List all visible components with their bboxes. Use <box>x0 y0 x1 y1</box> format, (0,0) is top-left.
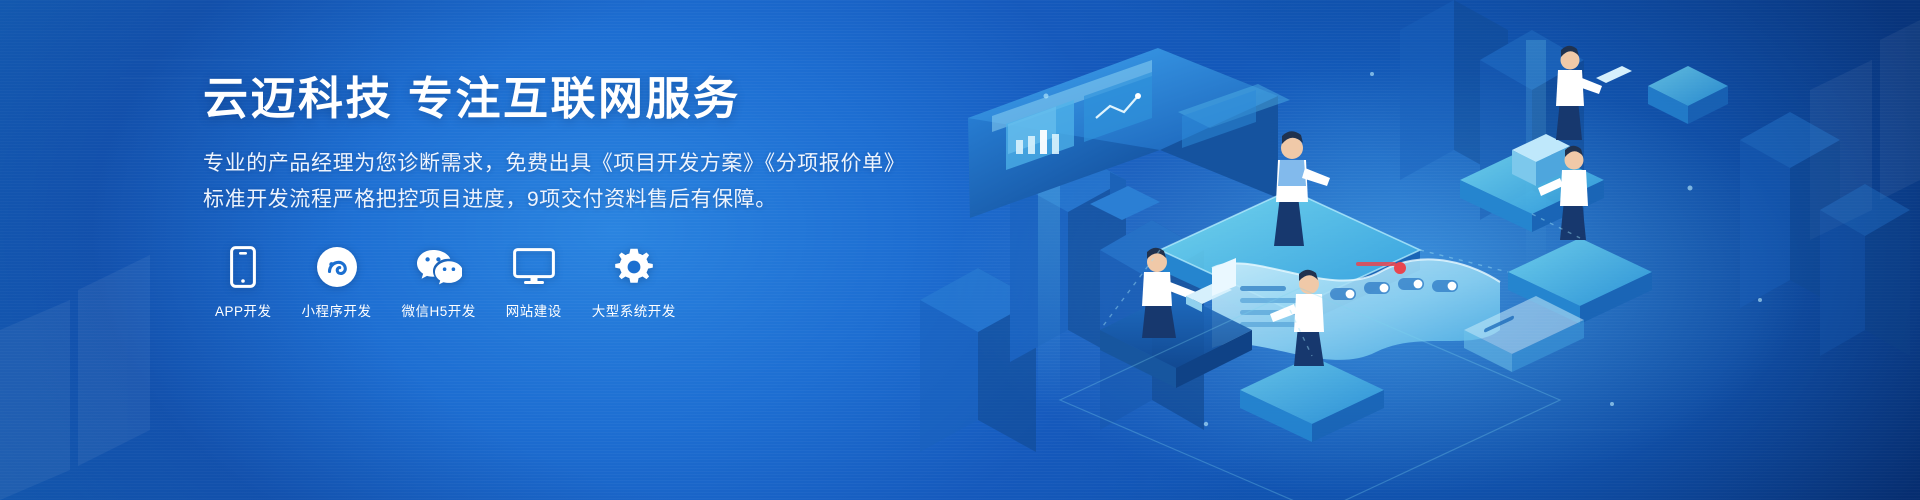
monitor-icon <box>506 245 562 289</box>
service-label-miniprogram: 小程序开发 <box>302 300 372 320</box>
hero-copy: 云迈科技 专注互联网服务 专业的产品经理为您诊断需求，免费出具《项目开发方案》《… <box>203 72 923 320</box>
service-item-website[interactable]: 网站建设 <box>506 245 562 320</box>
hero-illustration <box>860 0 1920 500</box>
service-item-miniprogram[interactable]: 小程序开发 <box>302 245 372 320</box>
subtitle-line-2: 标准开发流程严格把控项目进度，9项交付资料售后有保障。 <box>203 182 923 218</box>
wechat-icon <box>402 245 476 289</box>
mobile-phone-icon <box>215 245 272 289</box>
service-label-app: APP开发 <box>215 300 272 320</box>
service-item-system[interactable]: 大型系统开发 <box>592 245 676 320</box>
subtitle-line-1: 专业的产品经理为您诊断需求，免费出具《项目开发方案》《分项报价单》 <box>203 146 923 182</box>
page-title: 云迈科技 专注互联网服务 <box>203 72 923 126</box>
service-item-wechat[interactable]: 微信H5开发 <box>402 245 476 320</box>
gear-icon <box>592 245 676 289</box>
subtitle-block: 专业的产品经理为您诊断需求，免费出具《项目开发方案》《分项报价单》 标准开发流程… <box>203 146 923 218</box>
service-list: APP开发 小程序开发 <box>215 245 923 320</box>
mini-program-icon <box>302 245 372 289</box>
service-label-wechat: 微信H5开发 <box>402 300 476 320</box>
hero-banner: 云迈科技 专注互联网服务 专业的产品经理为您诊断需求，免费出具《项目开发方案》《… <box>0 0 1920 500</box>
service-item-app[interactable]: APP开发 <box>215 245 272 320</box>
service-label-system: 大型系统开发 <box>592 300 676 320</box>
service-label-website: 网站建设 <box>506 300 562 320</box>
